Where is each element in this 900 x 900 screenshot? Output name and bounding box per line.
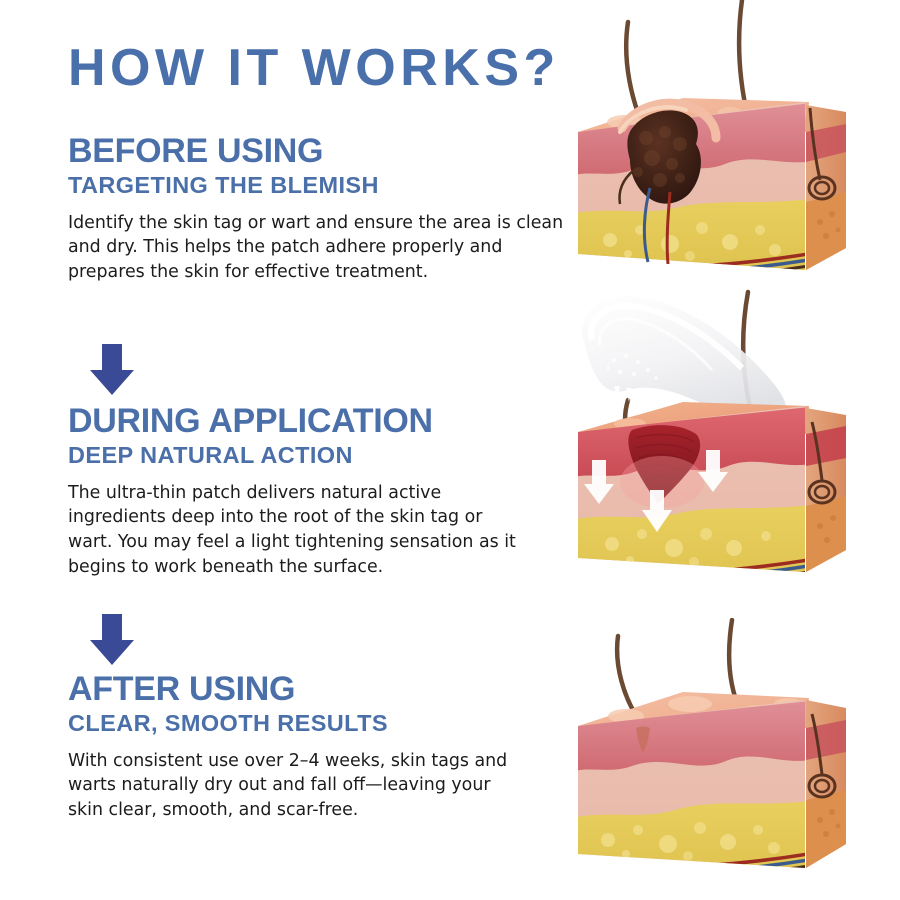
skin-cross-section-clear-illustration (570, 618, 900, 900)
section-heading-before: BEFORE USING (68, 134, 588, 169)
section-subheading-before: TARGETING THE BLEMISH (68, 173, 588, 198)
section-subheading-after: CLEAR, SMOOTH RESULTS (68, 711, 588, 736)
page-title: HOW IT WORKS? (68, 42, 560, 94)
infographic-page: HOW IT WORKS? BEFORE USING TARGETING THE… (0, 0, 900, 900)
down-arrow-icon-1 (80, 342, 144, 398)
section-during-application: DURING APPLICATION DEEP NATURAL ACTION T… (68, 404, 588, 580)
section-heading-during: DURING APPLICATION (68, 404, 588, 439)
section-before-using: BEFORE USING TARGETING THE BLEMISH Ident… (68, 134, 588, 285)
illustration-column (570, 0, 900, 900)
down-arrow-icon-2 (80, 612, 144, 668)
skin-cross-section-with-mole-illustration (570, 0, 900, 292)
section-body-before: Identify the skin tag or wart and ensure… (68, 211, 578, 285)
section-subheading-during: DEEP NATURAL ACTION (68, 443, 588, 468)
section-body-during: The ultra-thin patch delivers natural ac… (68, 481, 518, 580)
section-heading-after: AFTER USING (68, 672, 588, 707)
section-body-after: With consistent use over 2–4 weeks, skin… (68, 749, 518, 823)
section-after-using: AFTER USING CLEAR, SMOOTH RESULTS With c… (68, 672, 588, 823)
text-column: HOW IT WORKS? BEFORE USING TARGETING THE… (0, 0, 600, 900)
skin-cross-section-with-patch-illustration (570, 282, 900, 612)
